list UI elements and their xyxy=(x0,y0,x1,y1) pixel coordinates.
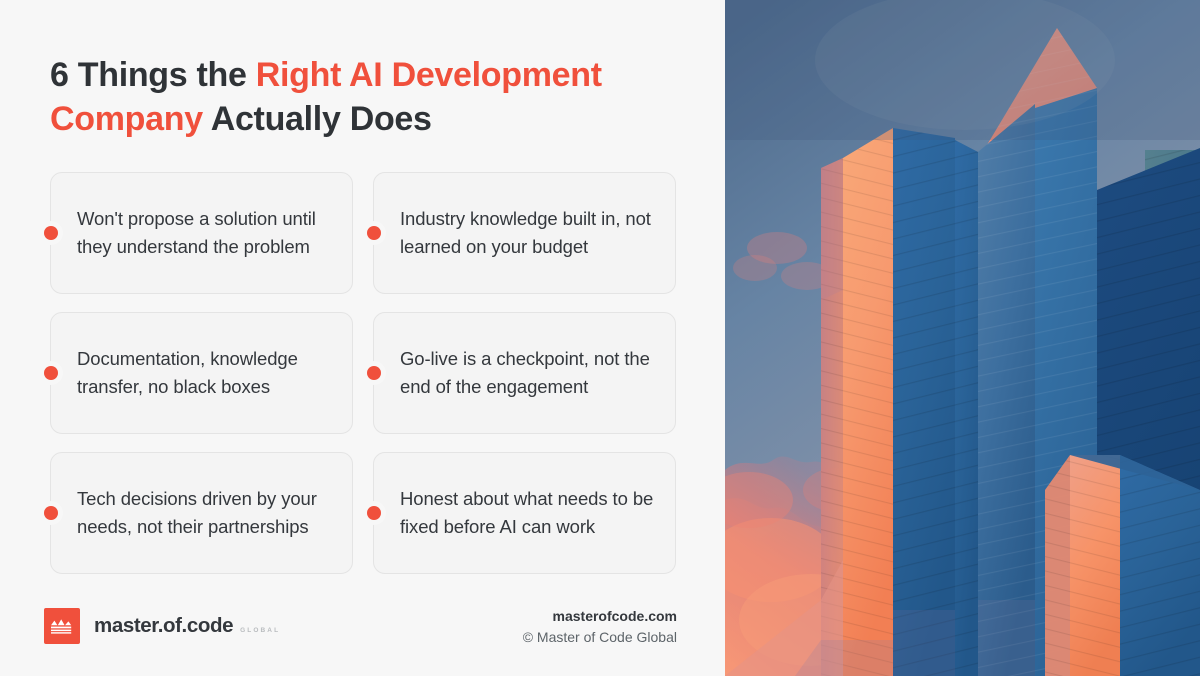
brand-logo: master.of.code GLOBAL xyxy=(44,608,280,644)
website-url: masterofcode.com xyxy=(523,606,677,627)
dot-icon xyxy=(367,226,381,240)
dot-icon xyxy=(44,366,58,380)
skyline-photo xyxy=(725,0,1200,676)
brand-wordmark: master.of.code GLOBAL xyxy=(94,614,280,638)
feature-card-grid: Won't propose a solution until they unde… xyxy=(50,172,676,574)
footer-attribution: masterofcode.com © Master of Code Global xyxy=(523,606,677,648)
dot-icon xyxy=(44,226,58,240)
feature-card-5-text: Tech decisions driven by your needs, not… xyxy=(51,485,352,541)
feature-card-6: Honest about what needs to be fixed befo… xyxy=(373,452,676,574)
master-of-code-mark-icon xyxy=(44,608,80,644)
feature-card-2-text: Industry knowledge built in, not learned… xyxy=(374,205,675,261)
dot-icon xyxy=(44,506,58,520)
feature-card-3: Documentation, knowledge transfer, no bl… xyxy=(50,312,353,434)
copyright-notice: © Master of Code Global xyxy=(523,627,677,648)
dot-icon xyxy=(367,366,381,380)
content-panel: 6 Things the Right AI Development Compan… xyxy=(0,0,725,676)
infographic-canvas: 6 Things the Right AI Development Compan… xyxy=(0,0,1200,676)
feature-card-3-text: Documentation, knowledge transfer, no bl… xyxy=(51,345,352,401)
feature-card-1-text: Won't propose a solution until they unde… xyxy=(51,205,352,261)
feature-card-5: Tech decisions driven by your needs, not… xyxy=(50,452,353,574)
headline-part-3: Actually Does xyxy=(203,100,432,138)
feature-card-4-text: Go-live is a checkpoint, not the end of … xyxy=(374,345,675,401)
headline-part-1: 6 Things the xyxy=(50,56,256,94)
brand-wordmark-main: master.of.code xyxy=(94,614,233,638)
page-title: 6 Things the Right AI Development Compan… xyxy=(50,54,700,141)
brand-wordmark-sub: GLOBAL xyxy=(240,627,280,634)
dot-icon xyxy=(367,506,381,520)
feature-card-6-text: Honest about what needs to be fixed befo… xyxy=(374,485,675,541)
feature-card-1: Won't propose a solution until they unde… xyxy=(50,172,353,294)
feature-card-4: Go-live is a checkpoint, not the end of … xyxy=(373,312,676,434)
feature-card-2: Industry knowledge built in, not learned… xyxy=(373,172,676,294)
